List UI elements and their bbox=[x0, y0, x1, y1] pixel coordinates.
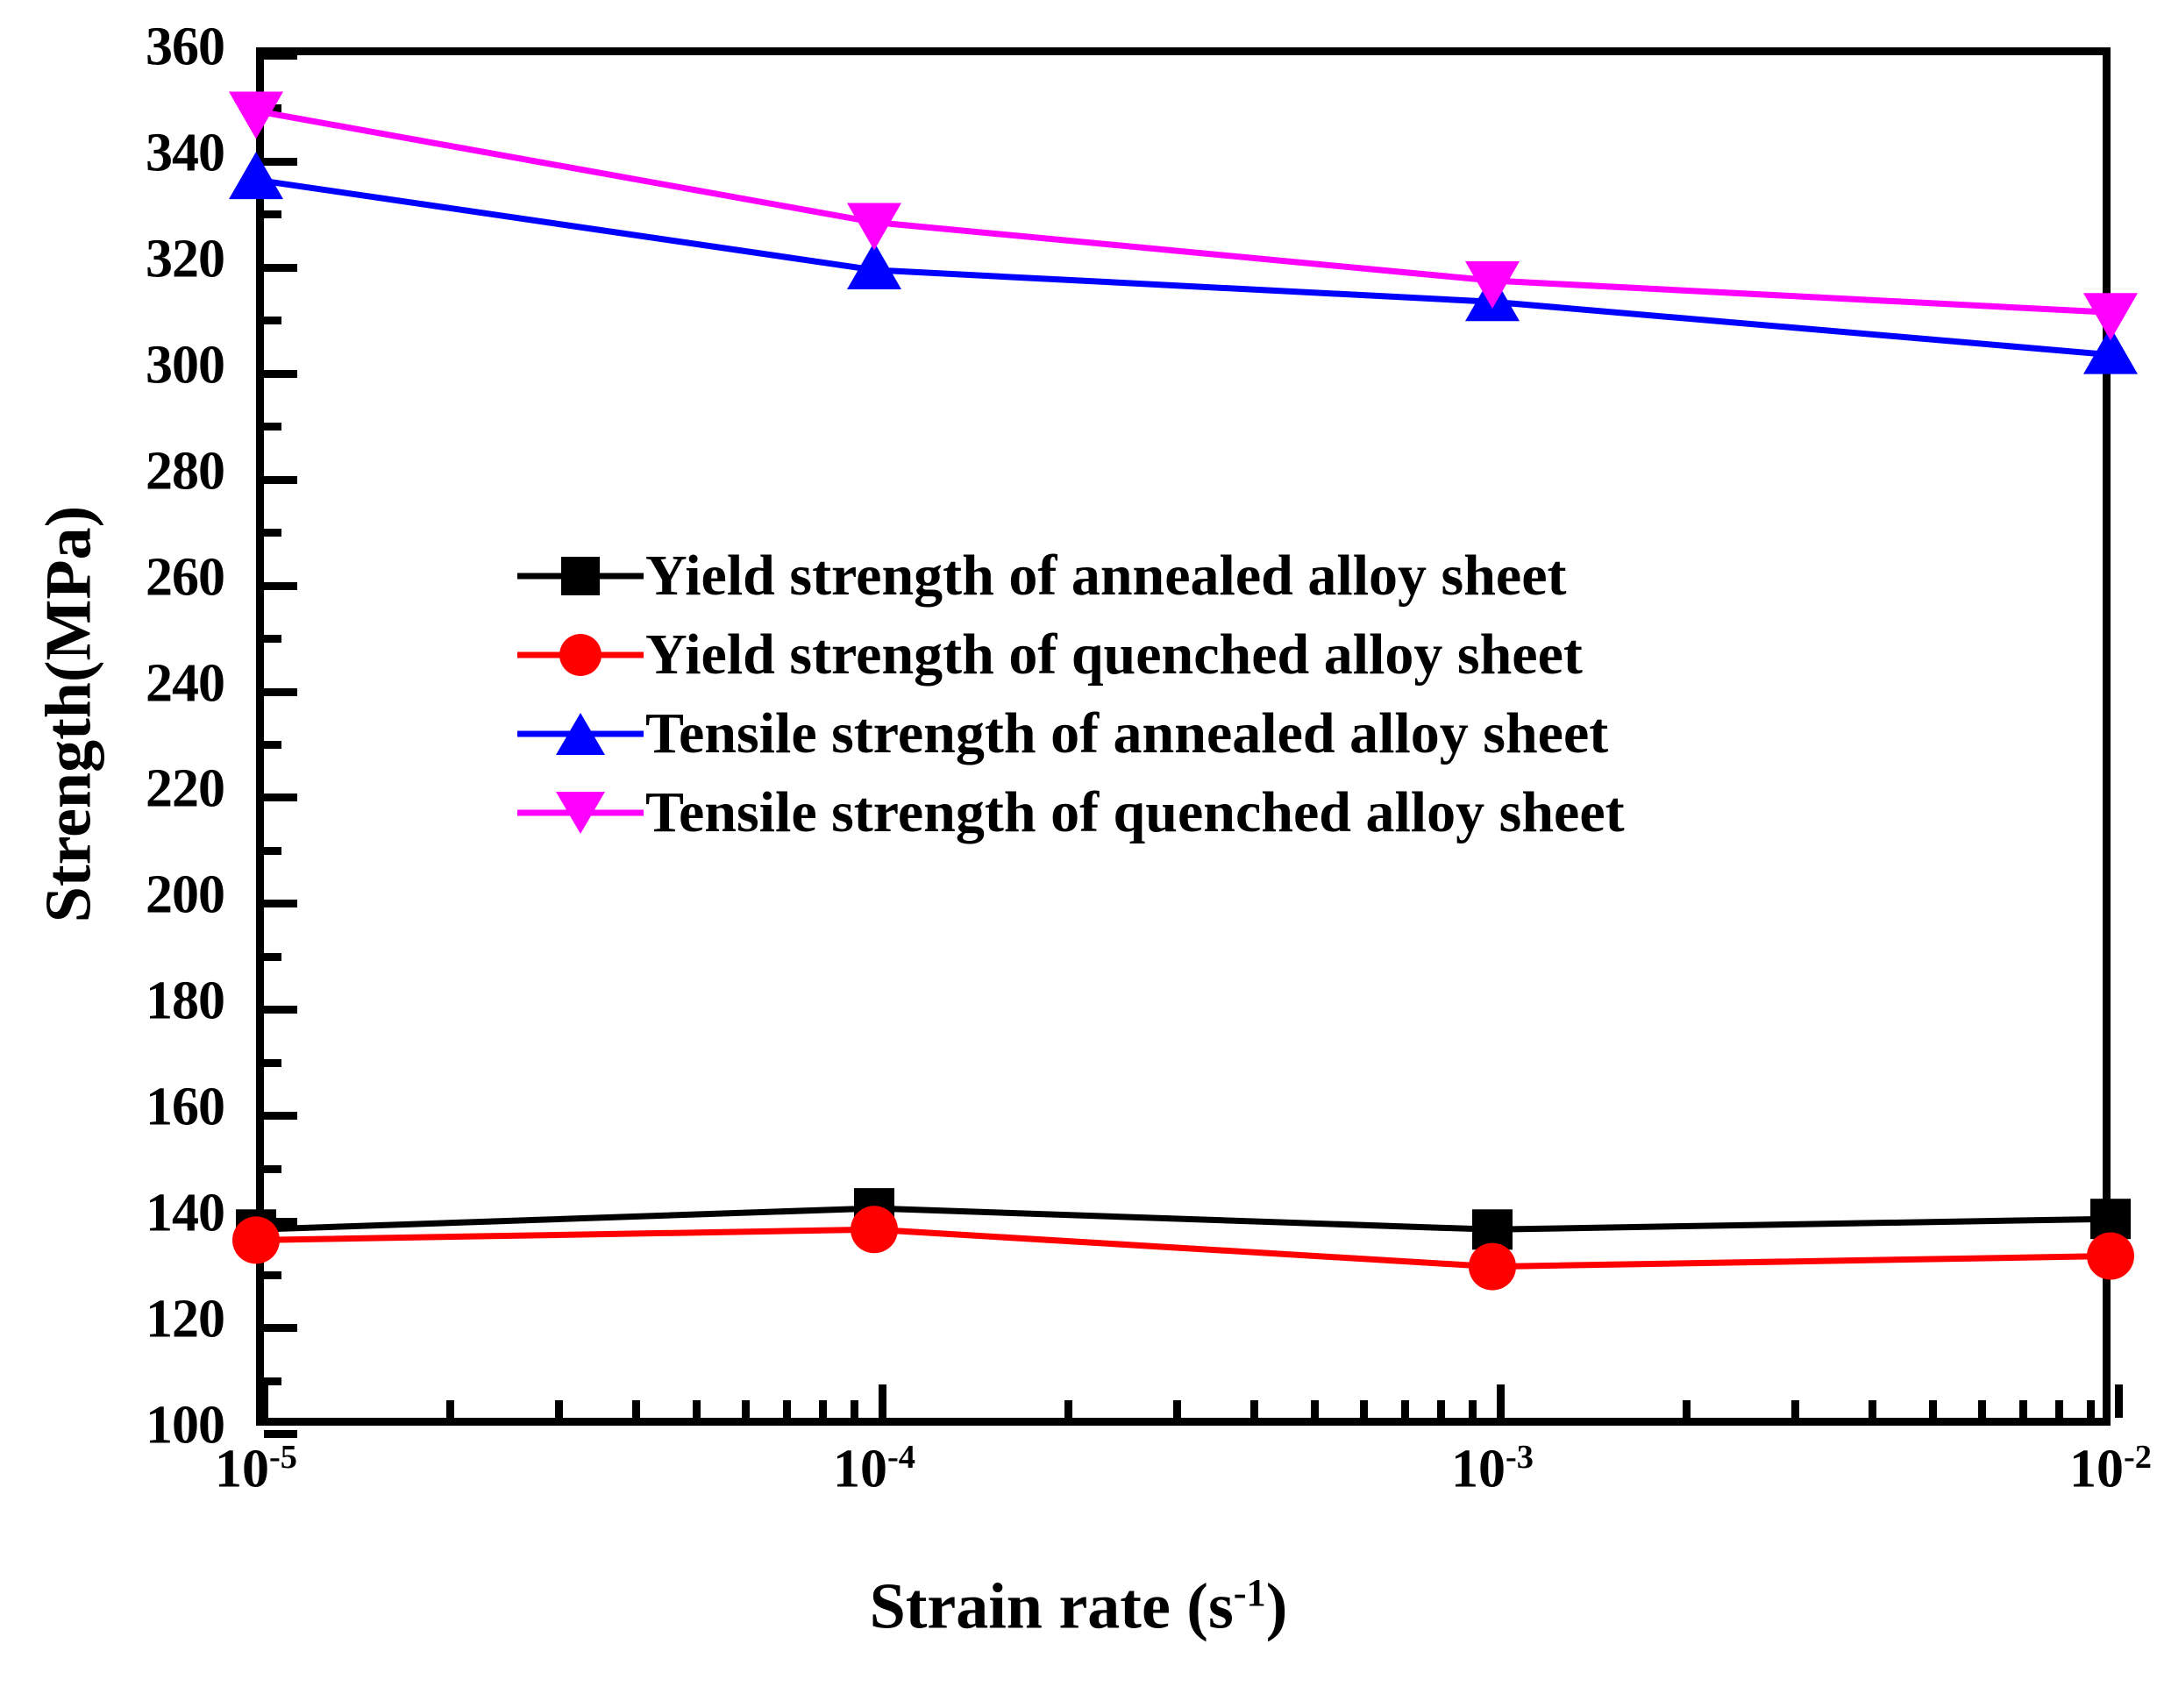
y-tick-label-120: 120 bbox=[146, 1289, 224, 1351]
y-tick-label-300: 300 bbox=[146, 334, 224, 396]
legend-item-tensile-quenched[interactable]: Tensile strength of quenched alloy sheet bbox=[516, 773, 2041, 852]
y-major-tick-100 bbox=[264, 1430, 297, 1438]
y-minor-tick bbox=[264, 847, 281, 855]
y-tick-label-260: 260 bbox=[146, 546, 224, 608]
y-minor-tick bbox=[264, 104, 281, 112]
x-tick-label-10-2: 10-2 bbox=[2069, 1438, 2152, 1501]
legend-item-yield-annealed[interactable]: Yield strength of annealed alloy sheet bbox=[516, 537, 2041, 616]
x-minor-tick bbox=[819, 1400, 827, 1418]
legend-label-tensile-quenched: Tensile strength of quenched alloy sheet bbox=[645, 784, 1625, 842]
y-major-tick-140 bbox=[264, 1218, 297, 1226]
y-minor-tick bbox=[264, 423, 281, 431]
x-minor-tick bbox=[1869, 1400, 1876, 1418]
y-minor-tick bbox=[264, 317, 281, 324]
x-minor-tick bbox=[1064, 1400, 1072, 1418]
y-major-tick-340 bbox=[264, 158, 297, 166]
y-tick-label-160: 160 bbox=[146, 1077, 224, 1139]
y-tick-label-140: 140 bbox=[146, 1183, 224, 1245]
x-tick-label-10-3: 10-3 bbox=[1451, 1438, 1534, 1501]
x-major-tick-10-2 bbox=[2115, 1384, 2123, 1418]
x-minor-tick bbox=[632, 1400, 640, 1418]
x-major-tick-10-4 bbox=[879, 1384, 886, 1418]
y-minor-tick bbox=[264, 529, 281, 537]
legend-key-tensile-annealed bbox=[516, 694, 645, 773]
triangle-down-marker-icon bbox=[556, 792, 605, 834]
y-minor-tick bbox=[264, 1059, 281, 1067]
y-major-tick-320 bbox=[264, 264, 297, 272]
y-major-tick-180 bbox=[264, 1006, 297, 1014]
x-minor-tick bbox=[1311, 1400, 1319, 1418]
y-minor-tick bbox=[264, 741, 281, 749]
triangle-up-marker-icon bbox=[556, 713, 605, 755]
x-major-tick-10-3 bbox=[1497, 1384, 1505, 1418]
chart-figure: 1001201401601802002202402602803003203403… bbox=[0, 0, 2157, 1708]
x-minor-tick bbox=[1250, 1400, 1258, 1418]
x-minor-tick bbox=[851, 1400, 858, 1418]
x-axis-tick-label-group: 10-510-410-310-2 bbox=[0, 1438, 2157, 1552]
y-major-tick-300 bbox=[264, 370, 297, 378]
y-major-tick-220 bbox=[264, 794, 297, 801]
y-tick-label-220: 220 bbox=[146, 758, 224, 821]
x-minor-tick bbox=[1173, 1400, 1181, 1418]
x-minor-tick bbox=[1437, 1400, 1445, 1418]
y-tick-label-360: 360 bbox=[146, 17, 224, 79]
legend-item-yield-quenched[interactable]: Yield strength of quenched alloy sheet bbox=[516, 616, 2041, 694]
y-minor-tick bbox=[264, 635, 281, 643]
legend-key-tensile-quenched bbox=[516, 773, 645, 852]
x-minor-tick bbox=[2055, 1400, 2063, 1418]
legend-key-yield-annealed bbox=[516, 537, 645, 616]
x-minor-tick bbox=[1683, 1400, 1691, 1418]
y-major-tick-280 bbox=[264, 476, 297, 484]
y-major-tick-240 bbox=[264, 688, 297, 696]
x-tick-label-10-4: 10-4 bbox=[833, 1438, 915, 1501]
x-minor-tick bbox=[693, 1400, 701, 1418]
x-minor-tick bbox=[1360, 1400, 1368, 1418]
x-minor-tick bbox=[2087, 1400, 2095, 1418]
x-axis-title: Strain rate (s-1) bbox=[0, 1569, 2157, 1645]
y-minor-tick bbox=[264, 210, 281, 218]
x-minor-tick bbox=[742, 1400, 750, 1418]
x-minor-tick bbox=[555, 1400, 563, 1418]
square-marker-icon bbox=[561, 557, 600, 595]
y-minor-tick bbox=[264, 1165, 281, 1173]
y-minor-tick bbox=[264, 1271, 281, 1279]
x-minor-tick bbox=[783, 1400, 791, 1418]
y-axis-title: Strength(MPa) bbox=[32, 364, 107, 1065]
legend-label-yield-annealed: Yield strength of annealed alloy sheet bbox=[645, 547, 1567, 605]
y-tick-label-180: 180 bbox=[146, 971, 224, 1033]
x-tick-label-10-5: 10-5 bbox=[215, 1438, 297, 1501]
legend-label-yield-quenched: Yield strength of quenched alloy sheet bbox=[645, 626, 1583, 684]
y-tick-label-200: 200 bbox=[146, 865, 224, 927]
y-tick-label-280: 280 bbox=[146, 440, 224, 502]
x-minor-tick bbox=[1978, 1400, 1986, 1418]
x-minor-tick bbox=[1791, 1400, 1799, 1418]
y-tick-label-340: 340 bbox=[146, 122, 224, 184]
y-major-tick-160 bbox=[264, 1112, 297, 1120]
y-tick-label-240: 240 bbox=[146, 652, 224, 715]
y-major-tick-260 bbox=[264, 582, 297, 590]
x-minor-tick bbox=[2019, 1400, 2027, 1418]
x-major-tick-10-5 bbox=[260, 1384, 268, 1418]
y-minor-tick bbox=[264, 953, 281, 961]
y-tick-label-320: 320 bbox=[146, 228, 224, 290]
y-major-tick-360 bbox=[264, 52, 297, 60]
circle-marker-icon bbox=[559, 634, 602, 676]
x-minor-tick bbox=[1401, 1400, 1409, 1418]
legend-key-yield-quenched bbox=[516, 616, 645, 694]
legend: Yield strength of annealed alloy sheet Y… bbox=[516, 537, 2041, 852]
legend-label-tensile-annealed: Tensile strength of annealed alloy sheet bbox=[645, 705, 1608, 763]
x-minor-tick bbox=[1929, 1400, 1937, 1418]
y-major-tick-200 bbox=[264, 900, 297, 907]
y-major-tick-120 bbox=[264, 1324, 297, 1332]
x-minor-tick bbox=[1469, 1400, 1477, 1418]
x-minor-tick bbox=[446, 1400, 454, 1418]
legend-item-tensile-annealed[interactable]: Tensile strength of annealed alloy sheet bbox=[516, 694, 2041, 773]
